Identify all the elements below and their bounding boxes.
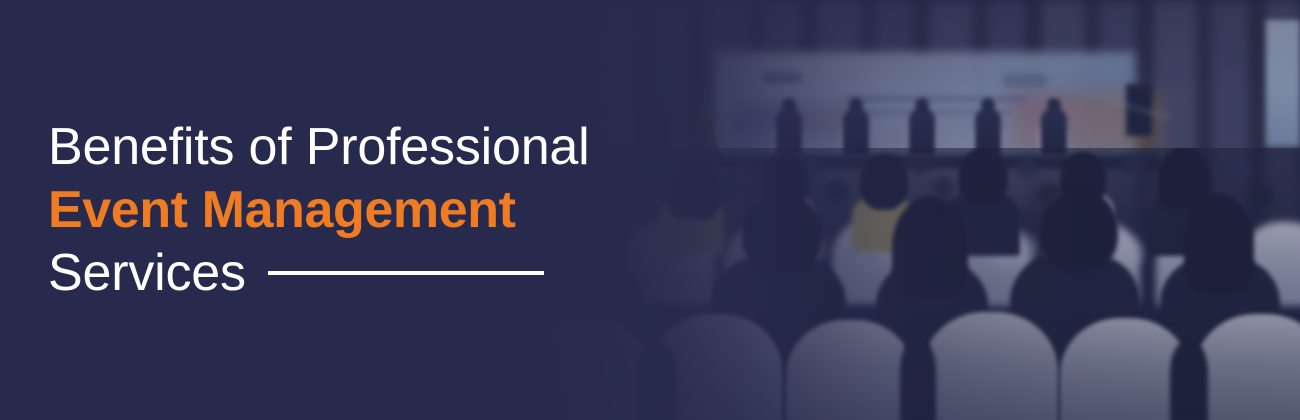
audience-chair: [786, 320, 914, 420]
photo-scene: [540, 0, 1300, 420]
headline-line-3-row: Services: [48, 242, 590, 305]
attendee-torso: [636, 344, 676, 420]
attendee-head: [1040, 188, 1118, 272]
attendee-torso: [900, 340, 936, 420]
side-projection-screen: [1266, 20, 1300, 146]
attendee-head: [1184, 194, 1254, 294]
attendee-head: [860, 154, 908, 210]
headline-line-1: Benefits of Professional: [48, 116, 590, 179]
headline-line-2-accent: Event Management: [48, 179, 590, 242]
conference-photo: [540, 0, 1300, 420]
attendee-head: [958, 148, 1008, 206]
attendee-torso: [1170, 342, 1208, 420]
attendee-head: [742, 192, 822, 274]
headline-block: Benefits of Professional Event Managemen…: [48, 0, 590, 420]
event-management-banner: Benefits of Professional Event Managemen…: [0, 0, 1300, 420]
page-title: Benefits of Professional Event Managemen…: [48, 116, 590, 305]
attendee-head: [668, 156, 720, 220]
headline-line-3: Services: [48, 242, 246, 305]
attendee-head: [892, 196, 968, 300]
decorative-rule: [268, 271, 544, 275]
audience-chair: [922, 312, 1058, 420]
audience-area: [540, 148, 1300, 420]
